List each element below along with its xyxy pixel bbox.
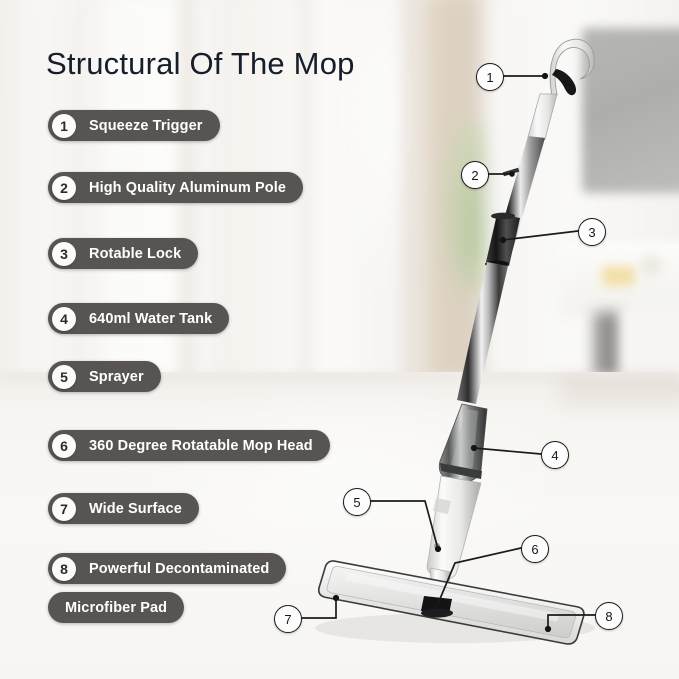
callout-number-5: 5 (353, 495, 360, 510)
callout-marker-4[interactable]: 4 (541, 441, 569, 469)
legend-label-4: 640ml Water Tank (89, 311, 212, 327)
legend-label-8-continuation: Microfiber Pad (65, 600, 167, 616)
legend-badge-6: 6 (52, 434, 76, 458)
page-title: Structural Of The Mop (46, 48, 355, 79)
legend-label-1: Squeeze Trigger (89, 118, 203, 134)
legend-badge-5: 5 (52, 365, 76, 389)
callout-marker-7[interactable]: 7 (274, 605, 302, 633)
legend-item-2[interactable]: 2 High Quality Aluminum Pole (48, 172, 303, 203)
legend-badge-3: 3 (52, 242, 76, 266)
legend-item-4[interactable]: 4 640ml Water Tank (48, 303, 229, 334)
callout-number-7: 7 (284, 612, 291, 627)
legend-label-3: Rotable Lock (89, 246, 181, 262)
legend-label-7: Wide Surface (89, 501, 182, 517)
legend-badge-7: 7 (52, 497, 76, 521)
legend-label-2: High Quality Aluminum Pole (89, 180, 286, 196)
legend-label-6: 360 Degree Rotatable Mop Head (89, 438, 313, 454)
callout-number-1: 1 (486, 70, 493, 85)
callout-number-4: 4 (551, 448, 558, 463)
legend-item-8[interactable]: 8 Powerful Decontaminated (48, 553, 286, 584)
callout-marker-5[interactable]: 5 (343, 488, 371, 516)
callout-marker-3[interactable]: 3 (578, 218, 606, 246)
legend-item-6[interactable]: 6 360 Degree Rotatable Mop Head (48, 430, 330, 461)
callout-marker-8[interactable]: 8 (595, 602, 623, 630)
legend-label-5: Sprayer (89, 369, 144, 385)
legend-item-5[interactable]: 5 Sprayer (48, 361, 161, 392)
callout-marker-6[interactable]: 6 (521, 535, 549, 563)
legend-item-1[interactable]: 1 Squeeze Trigger (48, 110, 220, 141)
legend-label-8: Powerful Decontaminated (89, 561, 269, 577)
callout-number-2: 2 (471, 168, 478, 183)
callout-marker-1[interactable]: 1 (476, 63, 504, 91)
legend-badge-2: 2 (52, 176, 76, 200)
infographic-canvas: Structural Of The Mop 1 Squeeze Trigger … (0, 0, 679, 679)
legend-badge-8: 8 (52, 557, 76, 581)
legend-item-8-continuation[interactable]: Microfiber Pad (48, 592, 184, 623)
callout-number-6: 6 (531, 542, 538, 557)
callout-number-8: 8 (605, 609, 612, 624)
legend-badge-1: 1 (52, 114, 76, 138)
legend-badge-4: 4 (52, 307, 76, 331)
callout-number-3: 3 (588, 225, 595, 240)
legend-item-3[interactable]: 3 Rotable Lock (48, 238, 198, 269)
legend-item-7[interactable]: 7 Wide Surface (48, 493, 199, 524)
callout-marker-2[interactable]: 2 (461, 161, 489, 189)
